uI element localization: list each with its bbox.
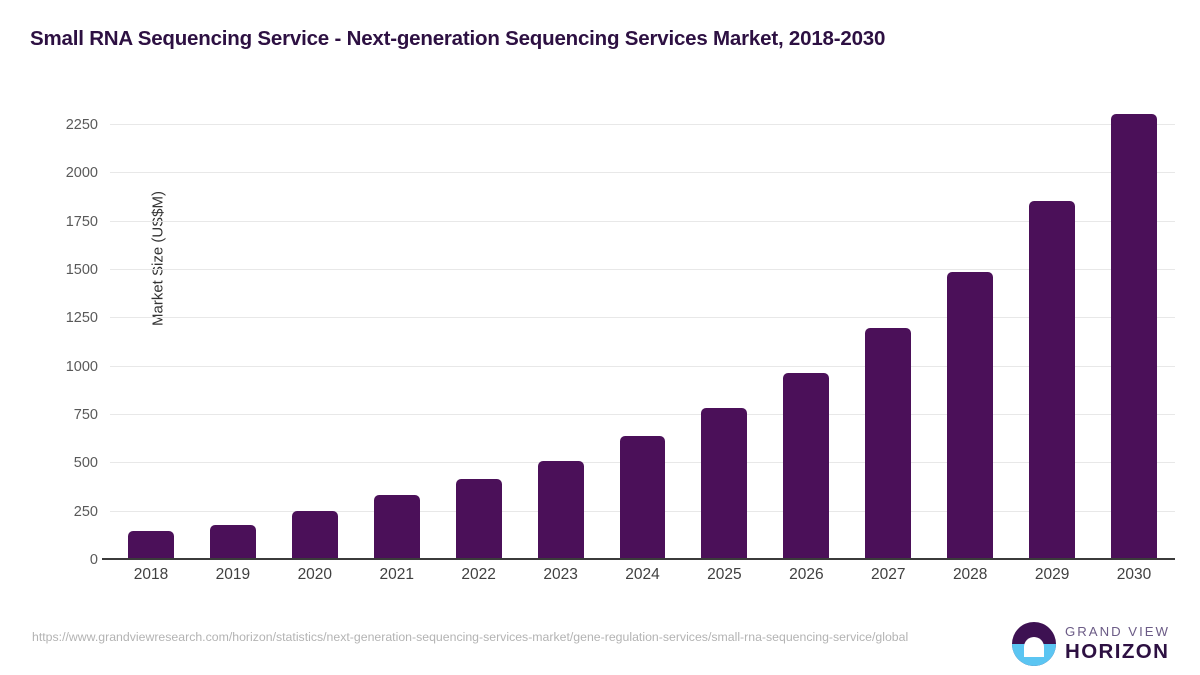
bar-slot: [356, 100, 438, 559]
bar-slot: [520, 100, 602, 559]
logo-top-text: GRAND VIEW: [1065, 625, 1170, 638]
y-tick-label: 0: [90, 552, 98, 568]
bar-2023[interactable]: [538, 461, 584, 559]
x-tick-label-2025: 2025: [683, 566, 765, 584]
bar-slot: [1093, 100, 1175, 559]
brand-logo[interactable]: GRAND VIEW HORIZON: [1012, 622, 1170, 666]
x-tick-label-2022: 2022: [438, 566, 520, 584]
logo-bottom-text: HORIZON: [1065, 642, 1170, 663]
x-axis-labels: 2018201920202021202220232024202520262027…: [110, 566, 1175, 584]
logo-wordmark: GRAND VIEW HORIZON: [1065, 625, 1170, 663]
bar-2020[interactable]: [292, 511, 338, 559]
bar-slot: [847, 100, 929, 559]
x-tick-label-2027: 2027: [847, 566, 929, 584]
bar-slot: [1011, 100, 1093, 559]
chart-page: Small RNA Sequencing Service - Next-gene…: [0, 0, 1200, 675]
bar-2029[interactable]: [1029, 201, 1075, 559]
y-tick-label: 750: [74, 407, 98, 423]
bar-2022[interactable]: [456, 479, 502, 559]
x-tick-label-2020: 2020: [274, 566, 356, 584]
y-tick-label: 1250: [66, 310, 98, 326]
bar-2030[interactable]: [1111, 114, 1157, 560]
bar-slot: [192, 100, 274, 559]
bar-2018[interactable]: [128, 531, 174, 559]
x-tick-label-2019: 2019: [192, 566, 274, 584]
bar-2024[interactable]: [620, 436, 666, 559]
y-tick-label: 250: [74, 504, 98, 520]
x-tick-label-2030: 2030: [1093, 566, 1175, 584]
y-tick-label: 1000: [66, 359, 98, 375]
bar-slot: [602, 100, 684, 559]
bar-slot: [110, 100, 192, 559]
x-tick-label-2028: 2028: [929, 566, 1011, 584]
bar-slot: [683, 100, 765, 559]
horizon-sun-icon: [1012, 622, 1056, 666]
bar-slot: [274, 100, 356, 559]
bar-slot: [929, 100, 1011, 559]
x-tick-label-2029: 2029: [1011, 566, 1093, 584]
bar-2019[interactable]: [210, 525, 256, 559]
bar-series: [110, 100, 1175, 559]
x-tick-label-2023: 2023: [520, 566, 602, 584]
source-url[interactable]: https://www.grandviewresearch.com/horizo…: [32, 628, 947, 646]
plot-area: Market Size (US$M) 025050075010001250150…: [110, 100, 1175, 560]
bar-2021[interactable]: [374, 495, 420, 559]
bar-slot: [438, 100, 520, 559]
x-tick-label-2021: 2021: [356, 566, 438, 584]
y-tick-label: 2000: [66, 165, 98, 181]
page-title: Small RNA Sequencing Service - Next-gene…: [30, 27, 885, 51]
x-tick-label-2024: 2024: [602, 566, 684, 584]
bar-slot: [765, 100, 847, 559]
bar-2026[interactable]: [783, 373, 829, 559]
y-tick-label: 500: [74, 455, 98, 471]
y-tick-label: 2250: [66, 117, 98, 133]
bar-2028[interactable]: [947, 272, 993, 559]
bar-2027[interactable]: [865, 328, 911, 559]
x-axis-line: [102, 558, 1175, 560]
x-tick-label-2026: 2026: [765, 566, 847, 584]
y-tick-label: 1750: [66, 214, 98, 230]
y-tick-label: 1500: [66, 262, 98, 278]
bar-2025[interactable]: [701, 408, 747, 559]
x-tick-label-2018: 2018: [110, 566, 192, 584]
